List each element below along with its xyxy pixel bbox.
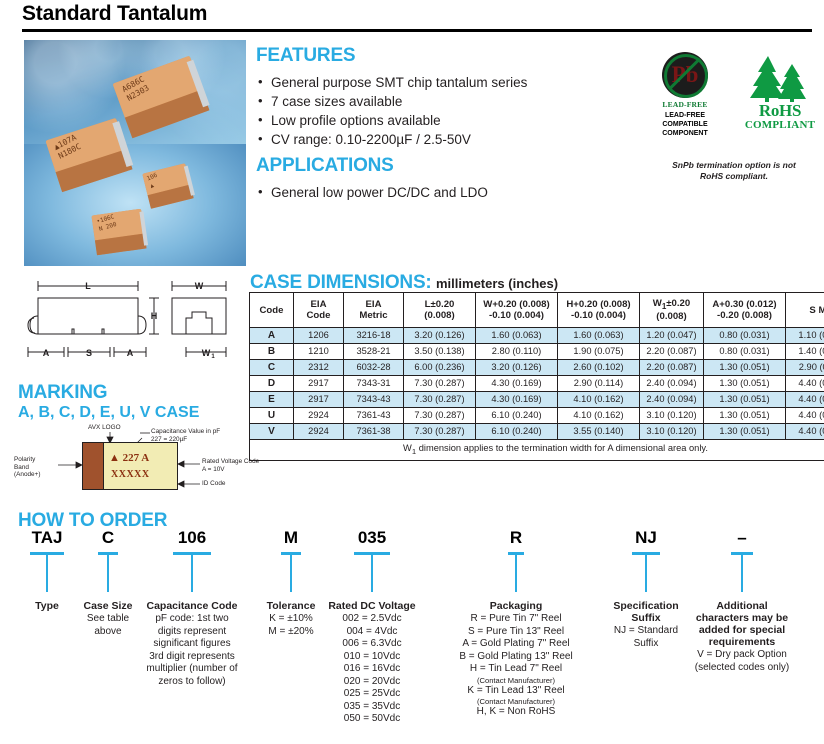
cell-value: 6.10 (0.240) [476, 408, 558, 424]
cell-value: 4.30 (0.169) [476, 392, 558, 408]
cell-value: 1.30 (0.051) [704, 392, 786, 408]
order-stem [191, 555, 193, 592]
case-dimensions-table: Code EIACode EIAMetric L±0.20(0.008) W+0… [249, 292, 824, 461]
order-desc-line: H, K = Non RoHS [441, 706, 591, 719]
svg-text:H: H [151, 311, 158, 321]
table-footnote: W1 dimension applies to the termination … [250, 440, 824, 461]
cell-value: 1.90 (0.075) [558, 344, 640, 360]
order-stem [741, 555, 743, 592]
cell-value: 2.90 (0.114) [786, 360, 824, 376]
cell-value: 2.20 (0.087) [640, 344, 704, 360]
polarity-line3: (Anode+) [14, 471, 40, 478]
marking-cases-label: A, B, C, D, E, U, V CASE [18, 404, 199, 422]
order-desc-line: 010 = 10Vdc [312, 651, 432, 664]
cell-value: 7.30 (0.287) [404, 424, 476, 440]
cell-value: 1.30 (0.051) [704, 376, 786, 392]
voltage-label-line1: Rated Voltage Code [202, 458, 259, 465]
cell-value: 4.30 (0.169) [476, 376, 558, 392]
order-column-title: Capacitance Code [132, 600, 252, 612]
datasheet-page: Standard Tantalum A686CN2303 ▲107AN180C … [0, 0, 824, 744]
chip-body: ▲ 227 A XXXXX [82, 442, 178, 490]
svg-text:W: W [202, 348, 211, 358]
table-footnote-row: W1 dimension applies to the termination … [250, 440, 824, 461]
order-code-5[interactable]: 035 [358, 528, 386, 548]
cell-value: 1210 [294, 344, 344, 360]
cell-code: C [250, 360, 294, 376]
order-desc-line: (Contact Manufacturer) [441, 697, 591, 706]
applications-list: General low power DC/DC and LDO [258, 183, 638, 202]
table-row: B12103528-213.50 (0.138)2.80 (0.110)1.90… [250, 344, 824, 360]
order-desc-line: H = Tin Lead 7" Reel [441, 663, 591, 676]
feature-item: 7 case sizes available [258, 92, 638, 111]
col-a: A+0.30 (0.012)-0.20 (0.008) [704, 293, 786, 328]
order-desc-line: zeros to follow) [132, 676, 252, 689]
capacitance-value-label: Capacitance Value in pF 227 = 220µF [151, 428, 247, 443]
svg-text:L: L [85, 281, 91, 291]
page-title: Standard Tantalum [22, 2, 812, 26]
cell-value: 7343-31 [344, 376, 404, 392]
capacitor-bottom: •106CN 200 [91, 209, 146, 256]
svg-text:A: A [127, 348, 134, 358]
polarity-band-label: Polarity Band (Anode+) [14, 456, 58, 479]
features-list: General purpose SMT chip tantalum series… [258, 73, 638, 149]
col-height: H+0.20 (0.008)-0.10 (0.004) [558, 293, 640, 328]
lead-free-caption: LEAD-FREE [646, 100, 724, 109]
cell-value: 1.30 (0.051) [704, 360, 786, 376]
col-length: L±0.20(0.008) [404, 293, 476, 328]
col-s-min: S Min. [786, 293, 824, 328]
cell-value: 7343-43 [344, 392, 404, 408]
cell-value: 7.30 (0.287) [404, 392, 476, 408]
order-stem [515, 555, 517, 592]
cell-value: 3216-18 [344, 328, 404, 344]
cell-value: 6032-28 [344, 360, 404, 376]
case-outline-drawing: L W H A S A W 1 [12, 272, 246, 370]
order-code-4[interactable]: M [284, 528, 298, 548]
cell-value: 2.20 (0.087) [640, 360, 704, 376]
cell-value: 2.90 (0.114) [558, 376, 640, 392]
rohs-wordmark: RoHS [738, 102, 822, 119]
cell-value: 1.10 (0.043) [786, 328, 824, 344]
polarity-line2: Band [14, 464, 29, 471]
title-divider [22, 29, 812, 32]
cell-value: 1.60 (0.063) [558, 328, 640, 344]
cell-value: 4.10 (0.162) [558, 408, 640, 424]
order-column-desc: 002 = 2.5Vdc004 = 4Vdc006 = 6.3Vdc010 = … [312, 613, 432, 726]
order-column-1: Type [17, 600, 77, 612]
capacitance-label-line2: 227 = 220µF [151, 436, 187, 443]
cell-value: 0.80 (0.031) [704, 344, 786, 360]
cell-value: 3.10 (0.120) [640, 424, 704, 440]
order-desc-line: digits represent [132, 626, 252, 639]
cell-value: 2.40 (0.094) [640, 392, 704, 408]
cell-value: 3.50 (0.138) [404, 344, 476, 360]
order-column-title: Type [17, 600, 77, 612]
cell-value: 4.10 (0.162) [558, 392, 640, 408]
order-desc-line: 3rd digit represents [132, 651, 252, 664]
cell-value: 1206 [294, 328, 344, 344]
order-desc-line: A = Gold Plating 7" Reel [441, 638, 591, 651]
cell-value: 2924 [294, 424, 344, 440]
how-to-order-area: TAJTypeCCase SizeSee tableabove106Capaci… [0, 528, 824, 744]
cell-value: 7.30 (0.287) [404, 408, 476, 424]
order-stem [645, 555, 647, 592]
snpb-note-line1: SnPb termination option is not [672, 160, 796, 170]
order-desc-line: 020 = 20Vdc [312, 676, 432, 689]
order-column-title: Rated DC Voltage [312, 600, 432, 612]
cell-value: 2.40 (0.094) [640, 376, 704, 392]
feature-item: Low profile options available [258, 111, 638, 130]
polarity-band [83, 443, 104, 489]
snpb-note: SnPb termination option is not RoHS comp… [654, 160, 814, 182]
feature-item: CV range: 0.10-2200µF / 2.5-50V [258, 130, 638, 149]
case-dimensions-heading: CASE DIMENSIONS: [250, 272, 432, 293]
product-photo: A686CN2303 ▲107AN180C 106▲ •106CN 200 [24, 40, 246, 266]
order-column-desc: V = Dry pack Option(selected codes only) [678, 649, 806, 674]
application-item: General low power DC/DC and LDO [258, 183, 638, 202]
cell-value: 7.30 (0.287) [404, 376, 476, 392]
rated-voltage-code-label: Rated Voltage Code A = 10V [202, 458, 268, 473]
lead-free-subcaption: LEAD-FREE COMPATIBLE COMPONENT [646, 111, 724, 138]
cell-code: E [250, 392, 294, 408]
order-desc-line: 002 = 2.5Vdc [312, 613, 432, 626]
cell-value: 0.80 (0.031) [704, 328, 786, 344]
cell-value: 1.30 (0.051) [704, 408, 786, 424]
order-desc-line: (selected codes only) [678, 662, 806, 675]
cell-value: 7361-38 [344, 424, 404, 440]
order-code-8[interactable]: – [737, 528, 746, 548]
order-desc-line: B = Gold Plating 13" Reel [441, 651, 591, 664]
order-desc-line: multiplier (number of [132, 663, 252, 676]
marking-diagram: ▲ 227 A XXXXX AVX LOGO Capacitance Value… [14, 424, 250, 502]
cell-value: 1.20 (0.047) [640, 328, 704, 344]
feature-item: General purpose SMT chip tantalum series [258, 73, 638, 92]
order-stem [371, 555, 373, 592]
order-desc-line: pF code: 1st two [132, 613, 252, 626]
cell-value: 3.20 (0.126) [404, 328, 476, 344]
col-code: Code [250, 293, 294, 328]
svg-text:A: A [43, 348, 50, 358]
order-desc-line: significant figures [132, 638, 252, 651]
cell-code: V [250, 424, 294, 440]
col-eia-code: EIACode [294, 293, 344, 328]
order-column-title: Additionalcharacters may beadded for spe… [678, 600, 806, 648]
order-desc-line: 035 = 35Vdc [312, 701, 432, 714]
cell-value: 4.40 (0.173) [786, 408, 824, 424]
col-eia-metric: EIAMetric [344, 293, 404, 328]
cell-code: B [250, 344, 294, 360]
table-row: A12063216-183.20 (0.126)1.60 (0.063)1.60… [250, 328, 824, 344]
table-header-row: Code EIACode EIAMetric L±0.20(0.008) W+0… [250, 293, 824, 328]
order-desc-line: 016 = 16Vdc [312, 663, 432, 676]
polarity-line1: Polarity [14, 456, 35, 463]
lead-free-sub-line2: COMPONENT [662, 130, 708, 137]
order-column-desc: R = Pure Tin 7" ReelS = Pure Tin 13" Ree… [441, 613, 591, 719]
order-code-7[interactable]: NJ [635, 528, 657, 548]
order-desc-line: V = Dry pack Option [678, 649, 806, 662]
order-desc-line: 004 = 4Vdc [312, 626, 432, 639]
cell-value: 4.40 (0.173) [786, 424, 824, 440]
lead-free-icon: Pb [662, 52, 708, 98]
table-row: U29247361-437.30 (0.287)6.10 (0.240)4.10… [250, 408, 824, 424]
voltage-label-line2: A = 10V [202, 466, 225, 473]
cell-value: 2917 [294, 392, 344, 408]
capacitor-small: 106▲ [142, 163, 193, 209]
cell-value: 1.30 (0.051) [704, 424, 786, 440]
pine-trees-icon [738, 52, 822, 102]
rohs-logo: RoHS COMPLIANT [738, 52, 822, 131]
cell-code: A [250, 328, 294, 344]
cell-value: 1.40 (0.055) [786, 344, 824, 360]
order-desc-line: 025 = 25Vdc [312, 688, 432, 701]
cell-value: 6.00 (0.236) [404, 360, 476, 376]
table-row: C23126032-286.00 (0.236)3.20 (0.126)2.60… [250, 360, 824, 376]
table-row: V29247361-387.30 (0.287)6.10 (0.240)3.55… [250, 424, 824, 440]
order-column-title: Packaging [441, 600, 591, 612]
cell-value: 2312 [294, 360, 344, 376]
cell-code: D [250, 376, 294, 392]
case-dimensions-table-body: A12063216-183.20 (0.126)1.60 (0.063)1.60… [250, 328, 824, 440]
applications-heading: APPLICATIONS [256, 155, 394, 177]
lead-free-logo: Pb LEAD-FREE LEAD-FREE COMPATIBLE COMPON… [646, 52, 724, 138]
order-desc-line: S = Pure Tin 13" Reel [441, 626, 591, 639]
svg-text:S: S [86, 348, 92, 358]
cell-value: 2917 [294, 376, 344, 392]
cell-value: 3528-21 [344, 344, 404, 360]
features-heading: FEATURES [256, 45, 355, 67]
cell-value: 7361-43 [344, 408, 404, 424]
snpb-note-line2: RoHS compliant. [700, 171, 768, 181]
order-stem [107, 555, 109, 592]
rohs-compliant-text: COMPLIANT [738, 119, 822, 131]
capacitance-label-line1: Capacitance Value in pF [151, 428, 220, 435]
chip-marking-line1: ▲ 227 A [109, 452, 149, 464]
order-column-6: PackagingR = Pure Tin 7" ReelS = Pure Ti… [441, 600, 591, 719]
order-column-8: Additionalcharacters may beadded for spe… [678, 600, 806, 674]
order-code-2[interactable]: C [102, 528, 114, 548]
chip-marking-line2: XXXXX [111, 469, 150, 480]
order-column-3: Capacitance CodepF code: 1st twodigits r… [132, 600, 252, 688]
marking-heading: MARKING [18, 382, 107, 404]
order-desc-line: (Contact Manufacturer) [441, 676, 591, 685]
cell-value: 4.40 (0.173) [786, 376, 824, 392]
cell-value: 3.10 (0.120) [640, 408, 704, 424]
id-code-label: ID Code [202, 480, 225, 488]
order-column-desc: pF code: 1st twodigits representsignific… [132, 613, 252, 688]
order-code-6[interactable]: R [510, 528, 522, 548]
case-dimensions-units: millimeters (inches) [436, 276, 558, 291]
cell-value: 6.10 (0.240) [476, 424, 558, 440]
order-desc-line: 006 = 6.3Vdc [312, 638, 432, 651]
order-desc-line: K = Tin Lead 13" Reel [441, 685, 591, 698]
svg-text:W: W [195, 281, 204, 291]
order-code-3[interactable]: 106 [178, 528, 206, 548]
col-width: W+0.20 (0.008)-0.10 (0.004) [476, 293, 558, 328]
col-w1: W1±0.20(0.008) [640, 293, 704, 328]
order-desc-line: R = Pure Tin 7" Reel [441, 613, 591, 626]
order-desc-line: 050 = 50Vdc [312, 713, 432, 726]
avx-logo-label: AVX LOGO [88, 424, 121, 432]
order-column-5: Rated DC Voltage002 = 2.5Vdc004 = 4Vdc00… [312, 600, 432, 726]
cell-value: 3.55 (0.140) [558, 424, 640, 440]
cell-value: 1.60 (0.063) [476, 328, 558, 344]
cell-value: 3.20 (0.126) [476, 360, 558, 376]
case-dimensions-heading-block: CASE DIMENSIONS: millimeters (inches) [250, 272, 558, 294]
cell-value: 2.80 (0.110) [476, 344, 558, 360]
cell-value: 2.60 (0.102) [558, 360, 640, 376]
svg-text:1: 1 [211, 354, 215, 360]
order-code-1[interactable]: TAJ [32, 528, 63, 548]
cell-code: U [250, 408, 294, 424]
table-row: D29177343-317.30 (0.287)4.30 (0.169)2.90… [250, 376, 824, 392]
title-block: Standard Tantalum [22, 2, 812, 32]
cell-value: 4.40 (0.173) [786, 392, 824, 408]
order-stem [290, 555, 292, 592]
cell-value: 2924 [294, 408, 344, 424]
lead-free-sub-line1: LEAD-FREE COMPATIBLE [662, 112, 707, 128]
table-row: E29177343-437.30 (0.287)4.30 (0.169)4.10… [250, 392, 824, 408]
order-stem [46, 555, 48, 592]
